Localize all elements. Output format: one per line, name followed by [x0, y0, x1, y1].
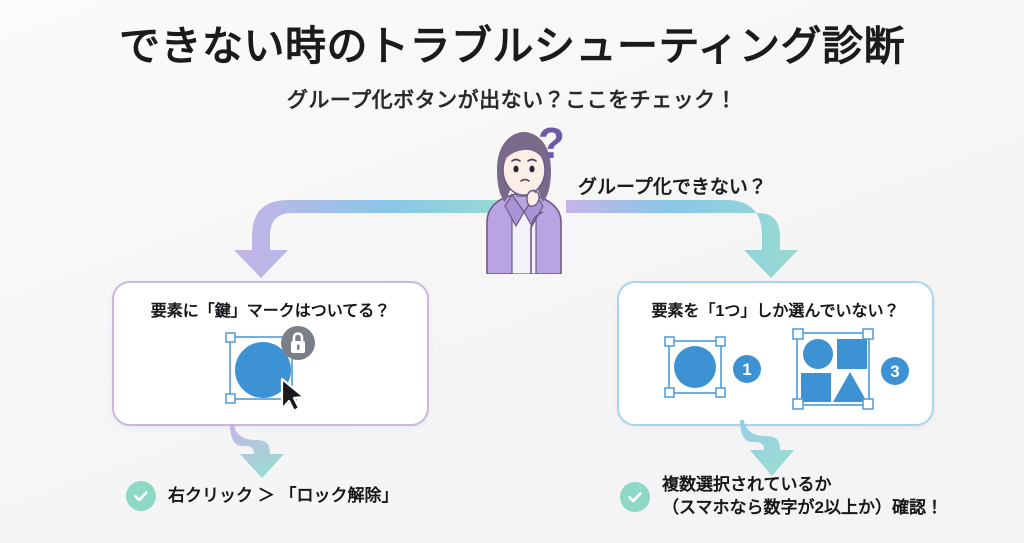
page-subtitle: グループ化ボタンが出ない？ここをチェック！ [0, 84, 1024, 114]
result-arrow-left [230, 424, 326, 480]
single-selection-illustration: 1 [657, 331, 775, 409]
conclusion-multiselect-line1: 複数選択されているか [662, 475, 832, 494]
locked-element-illustration [222, 325, 332, 417]
selection-count-badge-three: 3 [890, 362, 899, 381]
conclusion-multiselect-line2: （スマホなら数字が2以上か）確認！ [662, 497, 943, 520]
check-icon [126, 481, 156, 511]
page-title: できない時のトラブルシューティング診断 [0, 24, 1024, 69]
selection-count-badge-one: 1 [742, 360, 751, 379]
card-multi-select-check[interactable]: 要素を「1つ」しか選んでいない？ 1 3 [617, 281, 934, 426]
branch-question-label: グループ化できない？ [578, 172, 767, 199]
slide-background: できない時のトラブルシューティング診断 グループ化ボタンが出ない？ここをチェック… [0, 0, 1024, 543]
conclusion-multiselect-text: 複数選択されているか （スマホなら数字が2以上か）確認！ [662, 474, 943, 520]
card-multi-select-check-title: 要素を「1つ」しか選んでいない？ [619, 297, 932, 321]
multi-selection-illustration: 3 [787, 325, 915, 415]
card-lock-check-title: 要素に「鍵」マークはついてる？ [114, 297, 427, 321]
conclusion-multiselect: 複数選択されているか （スマホなら数字が2以上か）確認！ [620, 474, 943, 520]
result-arrow-right [740, 420, 836, 478]
conclusion-unlock: 右クリック ＞ 「ロック解除」 [126, 481, 398, 511]
card-lock-check[interactable]: 要素に「鍵」マークはついてる？ [112, 281, 429, 426]
question-mark-icon: ? [538, 122, 565, 166]
check-icon [620, 482, 650, 512]
conclusion-unlock-text: 右クリック ＞ 「ロック解除」 [168, 485, 398, 508]
connector-arrow-right [566, 200, 814, 282]
